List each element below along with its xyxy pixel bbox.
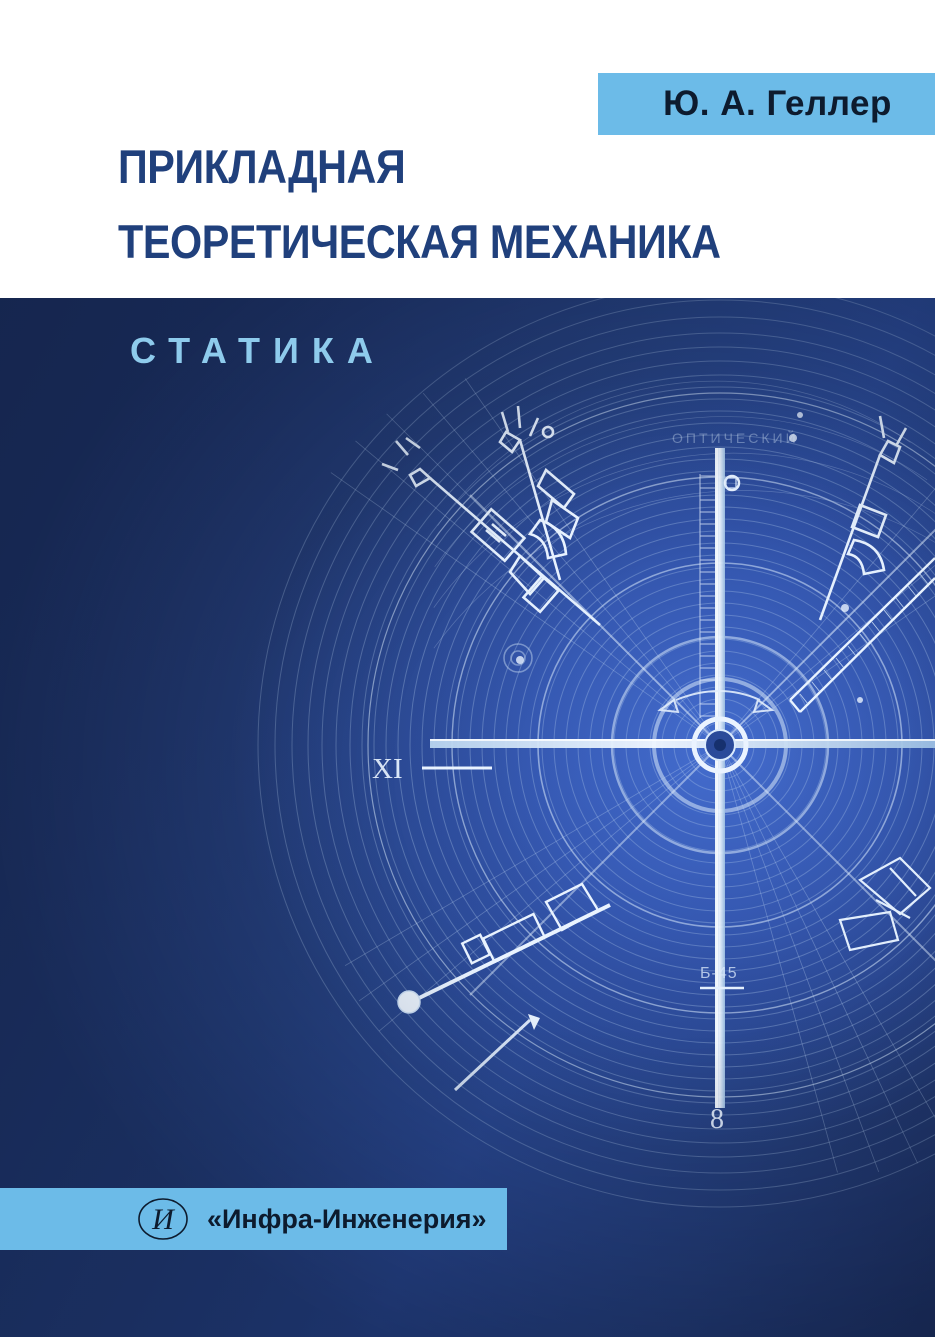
blueprint-horizontal-axis [430,739,935,748]
blueprint-top-caption: ОПТИЧЕСКИЙ [672,429,799,446]
title-line-2: ТЕОРЕТИЧЕСКАЯ МЕХАНИКА [118,218,822,265]
subtitle: СТАТИКА [130,330,386,372]
author-name: Ю. А. Геллер [641,84,892,124]
blueprint-axis-box-label: Б-45 [700,965,738,982]
author-banner: Ю. А. Геллер [598,73,935,135]
blueprint-left-axis-label: XI [372,753,403,785]
publisher-banner: И «Инфра-Инженерия» [0,1188,507,1250]
publisher-monogram-letter: И [151,1203,176,1236]
page-title: ПРИКЛАДНАЯ ТЕОРЕТИЧЕСКАЯ МЕХАНИКА [118,143,918,265]
blueprint-ball-end [398,991,420,1013]
publisher-name: «Инфра-Инженерия» [207,1204,487,1235]
publisher-monogram-icon: И [135,1196,191,1242]
book-cover: XI 8 Б-45 ОПТИЧЕСКИЙ [0,0,935,1337]
title-line-1: ПРИКЛАДНАЯ [118,143,822,190]
blueprint-bottom-axis-label: 8 [710,1104,724,1135]
